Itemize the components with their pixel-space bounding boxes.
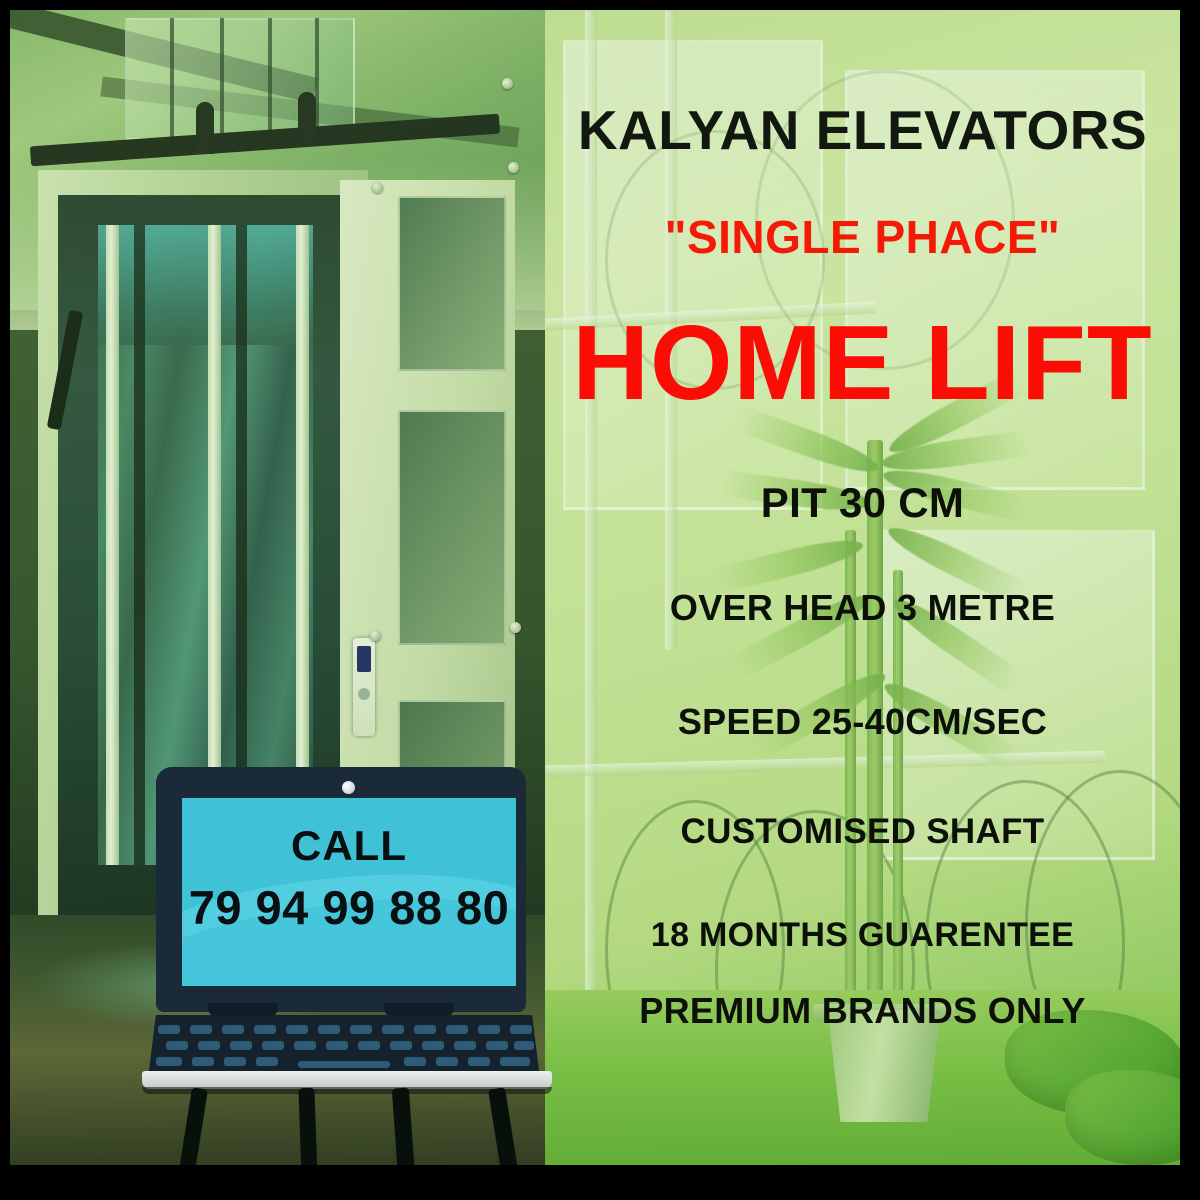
keyboard-key <box>158 1025 180 1034</box>
keyboard-key <box>230 1041 252 1050</box>
keyboard-key <box>390 1041 412 1050</box>
call-panel-display-icon <box>357 646 371 672</box>
call-panel-button-icon[interactable] <box>358 688 370 700</box>
laptop-screen: CALL 79 94 99 88 80 <box>182 798 516 986</box>
laptop-hinge-right <box>384 1003 454 1017</box>
keyboard-key <box>222 1025 244 1034</box>
elevator-call-panel[interactable] <box>353 638 375 736</box>
frame-bolt-icon <box>502 78 513 89</box>
keyboard-key <box>166 1041 188 1050</box>
keyboard-key <box>192 1057 214 1066</box>
door-handle-icon <box>298 92 316 144</box>
keyboard-key <box>318 1025 340 1034</box>
feature-item-brands: PREMIUM BRANDS ONLY <box>545 990 1180 1032</box>
poster-canvas: KALYAN ELEVATORS "SINGLE PHACE" HOME LIF… <box>10 10 1180 1165</box>
cabin-chrome-mullion <box>106 225 119 865</box>
feature-item-guarantee: 18 MONTHS GUARENTEE <box>545 916 1180 955</box>
door-handle-icon <box>196 102 214 154</box>
frame-bolt-icon <box>372 182 383 193</box>
frame-bolt-icon <box>370 630 381 641</box>
glass-mullion <box>170 18 174 140</box>
feature-item-overhead: OVER HEAD 3 METRE <box>545 587 1180 629</box>
upper-glass-panel <box>125 18 355 140</box>
keyboard-key <box>254 1025 276 1034</box>
feature-item-shaft: CUSTOMISED SHAFT <box>545 812 1180 852</box>
phone-number[interactable]: 79 94 99 88 80 <box>182 880 516 935</box>
brand-title: KALYAN ELEVATORS <box>545 98 1180 162</box>
glass-mullion <box>220 18 224 140</box>
keyboard-key <box>262 1041 284 1050</box>
keyboard-key <box>414 1025 436 1034</box>
keyboard-key <box>404 1057 426 1066</box>
keyboard-key <box>510 1025 532 1034</box>
keyboard-key <box>190 1025 212 1034</box>
cabin-dark-seam <box>134 225 145 865</box>
keyboard-key <box>436 1057 458 1066</box>
keyboard-key <box>468 1057 490 1066</box>
laptop-graphic: CALL 79 94 99 88 80 <box>148 767 548 1097</box>
keyboard-key <box>446 1025 468 1034</box>
keyboard-key <box>358 1041 380 1050</box>
keyboard-key <box>156 1057 182 1066</box>
frame-bolt-icon <box>508 162 519 173</box>
door-glass-pane <box>398 196 506 371</box>
laptop-hinge-left <box>208 1003 278 1017</box>
glass-mullion <box>268 18 272 140</box>
keyboard-key <box>224 1057 246 1066</box>
keyboard-key <box>486 1041 508 1050</box>
feature-item-pit: PIT 30 CM <box>545 479 1180 527</box>
keyboard-key <box>478 1025 500 1034</box>
keyboard-key <box>514 1041 534 1050</box>
keyboard-key <box>454 1041 476 1050</box>
laptop-lid: CALL 79 94 99 88 80 <box>156 767 526 1012</box>
keyboard-key <box>294 1041 316 1050</box>
laptop-keyboard <box>148 1015 540 1079</box>
keyboard-key <box>198 1041 220 1050</box>
table-leg <box>298 1088 317 1165</box>
page-title: HOME LIFT <box>545 310 1180 416</box>
webcam-icon <box>342 781 355 794</box>
keyboard-key <box>256 1057 278 1066</box>
cabin-upper-glow <box>98 225 313 345</box>
feature-item-speed: SPEED 25-40CM/SEC <box>545 701 1180 743</box>
keyboard-spacebar <box>298 1061 390 1068</box>
keyboard-key <box>286 1025 308 1034</box>
tagline: "SINGLE PHACE" <box>545 210 1180 264</box>
call-label: CALL <box>182 822 516 870</box>
keyboard-key <box>326 1041 348 1050</box>
frame-bolt-icon <box>510 622 521 633</box>
advertisement-poster: KALYAN ELEVATORS "SINGLE PHACE" HOME LIF… <box>0 0 1200 1200</box>
keyboard-key <box>422 1041 444 1050</box>
keyboard-key <box>500 1057 530 1066</box>
keyboard-key <box>350 1025 372 1034</box>
text-column: KALYAN ELEVATORS "SINGLE PHACE" HOME LIF… <box>545 10 1180 1165</box>
keyboard-key <box>382 1025 404 1034</box>
door-glass-pane <box>398 410 506 645</box>
